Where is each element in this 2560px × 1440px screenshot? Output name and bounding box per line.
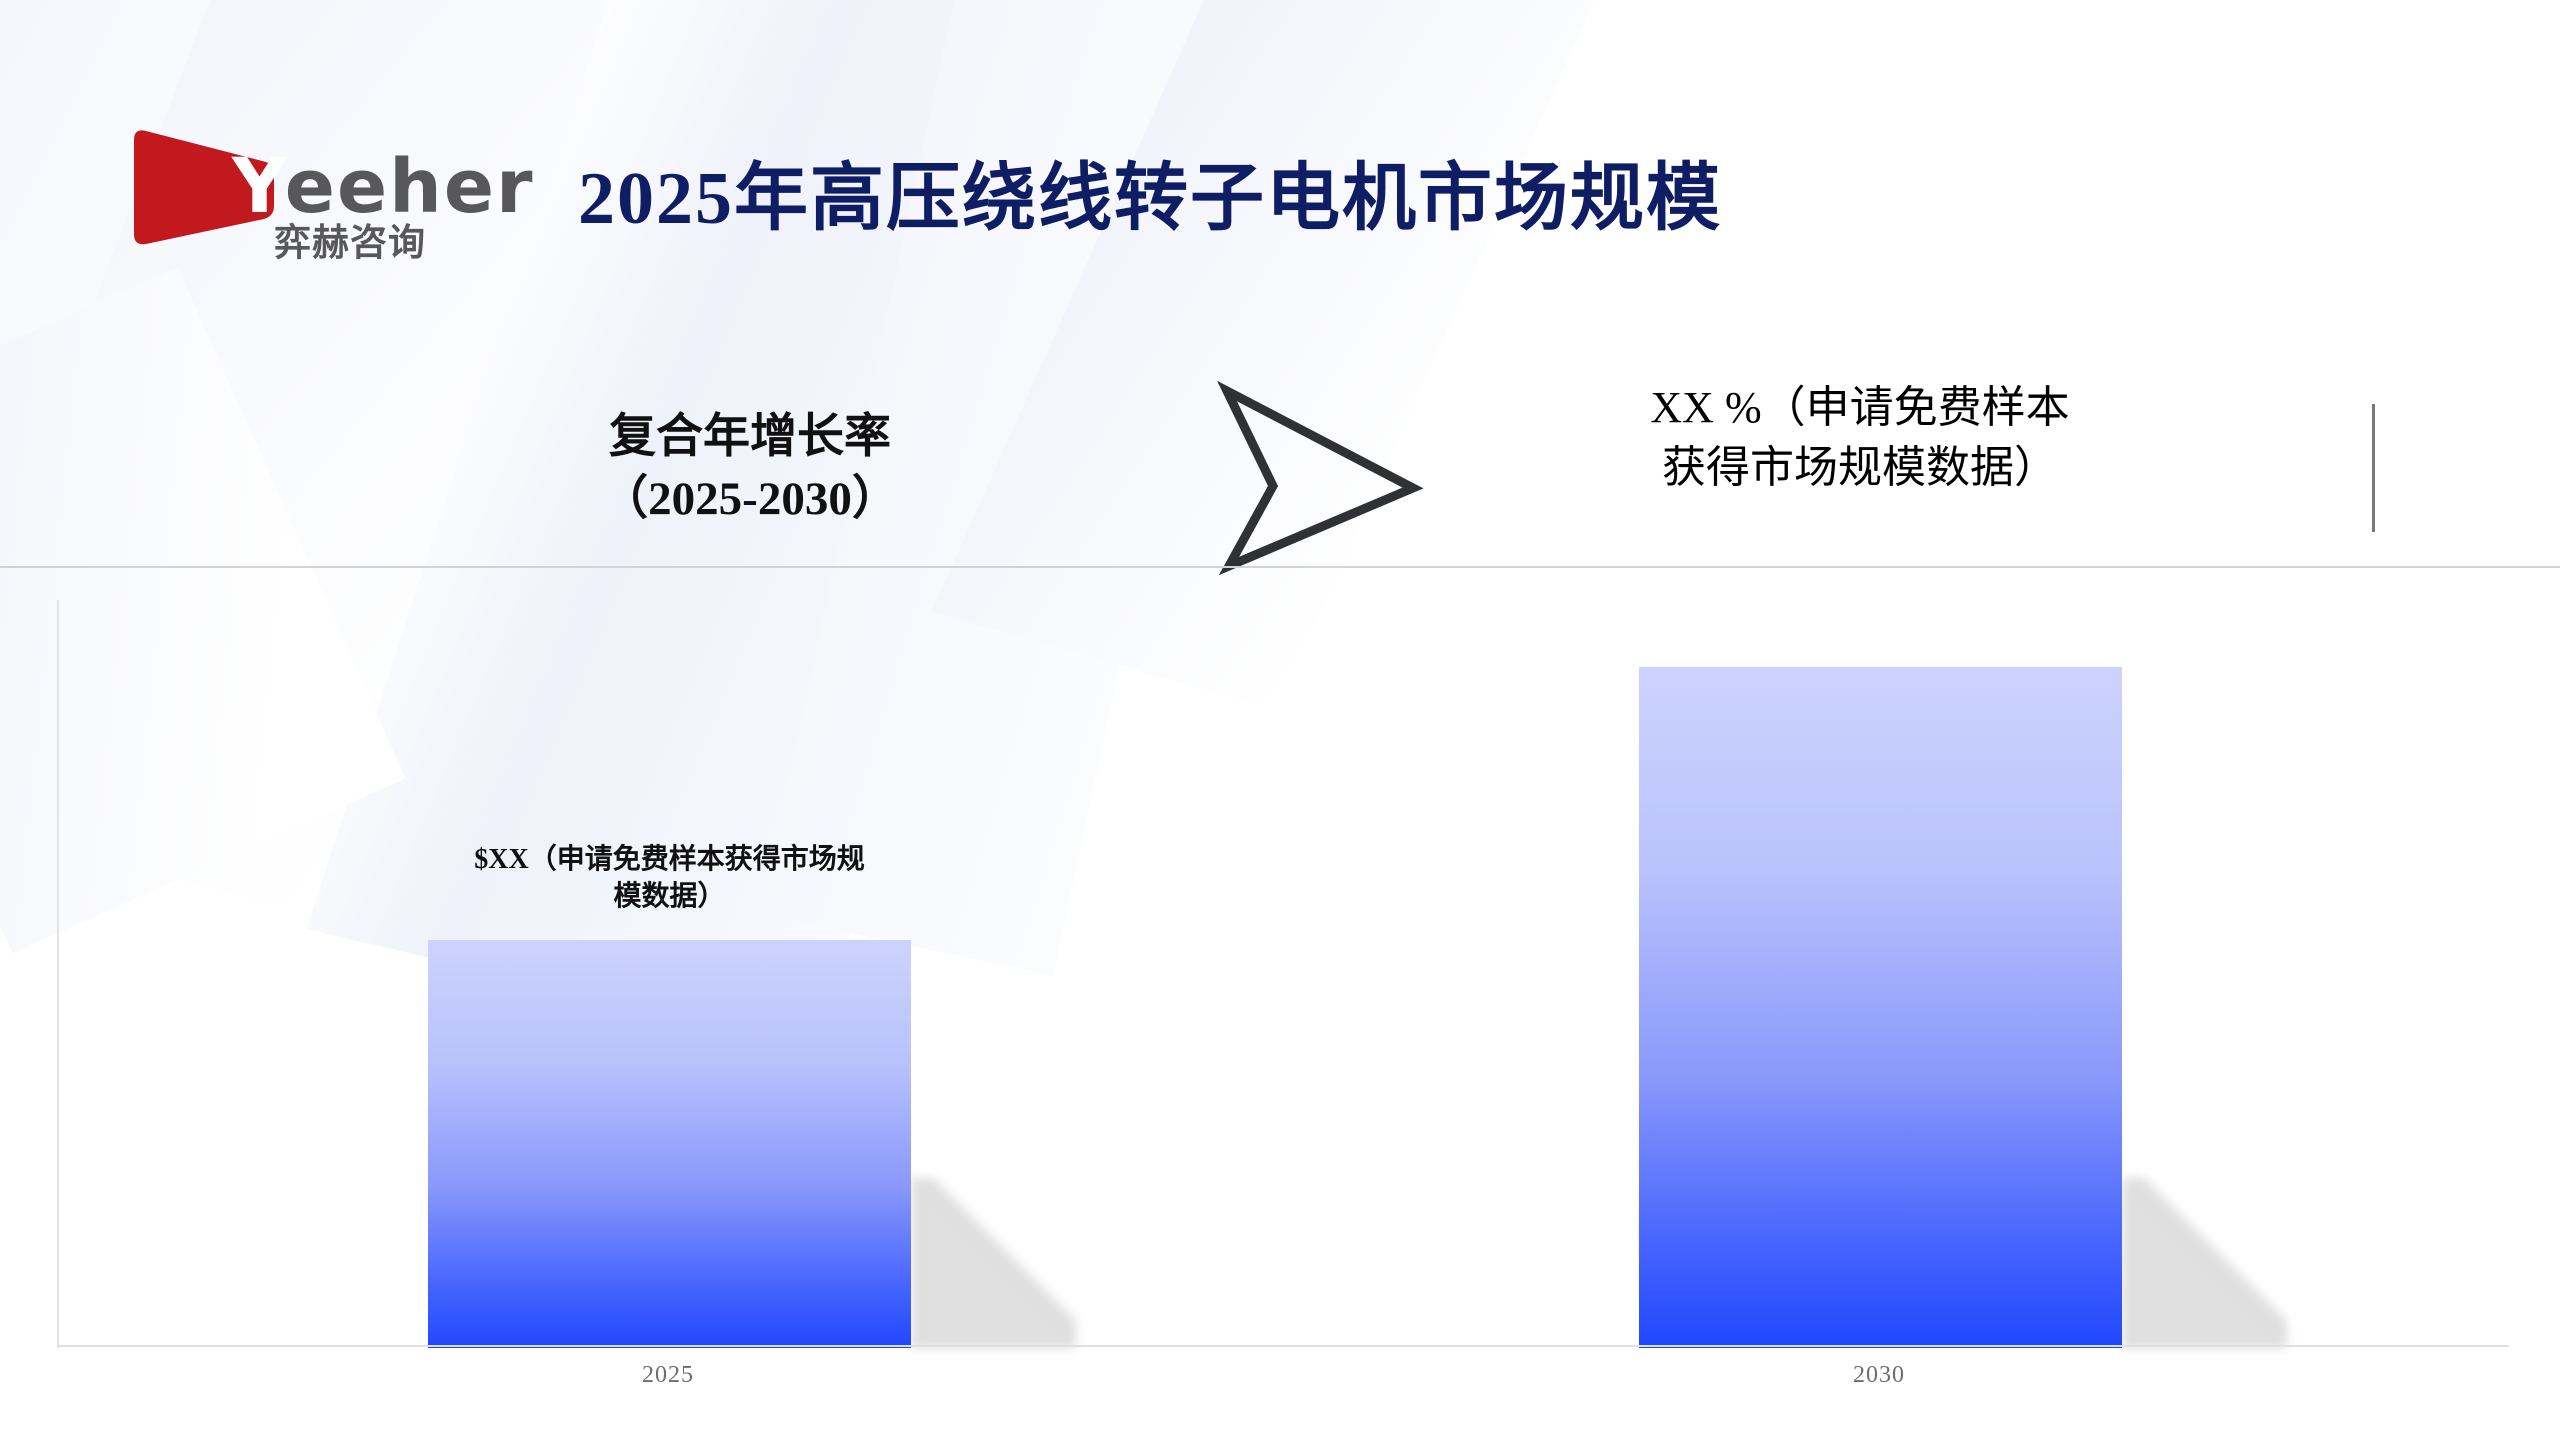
bar-slot-2030 <box>1639 600 2122 1348</box>
vertical-divider <box>2372 404 2375 532</box>
brand-logo: Yeeher Y 弈赫咨询 <box>128 124 488 249</box>
cagr-value: XX %（申请免费样本 获得市场规模数据） <box>1600 378 2120 498</box>
bar-value-line1: $XX（申请免费样本获得市场规 <box>455 842 885 879</box>
cagr-value-line2: 获得市场规模数据） <box>1600 438 2120 498</box>
cagr-value-line1: XX %（申请免费样本 <box>1600 378 2120 438</box>
bar-shadow <box>2122 1178 2287 1348</box>
arrow-right-icon <box>1215 380 1425 575</box>
logo-subtext: 弈赫咨询 <box>274 212 426 266</box>
bar-slot-2025: $XX（申请免费样本获得市场规 模数据） <box>428 600 911 1348</box>
x-tick-label-2030: 2030 <box>1729 1362 2029 1389</box>
x-tick-label-2025: 2025 <box>518 1362 818 1389</box>
bar-2030[interactable] <box>1639 667 2122 1348</box>
bar-chart: $XX（申请免费样本获得市场规 模数据） <box>57 600 2509 1348</box>
bar-2025[interactable]: $XX（申请免费样本获得市场规 模数据） <box>428 940 911 1348</box>
slide-canvas: Yeeher Y 弈赫咨询 2025年高压绕线转子电机市场规模 复合年增长率 （… <box>0 0 2560 1440</box>
bar-shadow <box>911 1178 1076 1348</box>
cagr-label-line2: （2025-2030） <box>540 468 960 530</box>
cagr-label: 复合年增长率 （2025-2030） <box>540 406 960 530</box>
bar-value-line2: 模数据） <box>455 879 885 916</box>
chart-baseline <box>57 1345 2509 1347</box>
bar-value-label-2025: $XX（申请免费样本获得市场规 模数据） <box>455 842 885 916</box>
page-title: 2025年高压绕线转子电机市场规模 <box>578 138 1722 245</box>
horizontal-rule <box>0 566 2560 568</box>
cagr-label-line1: 复合年增长率 <box>540 406 960 468</box>
